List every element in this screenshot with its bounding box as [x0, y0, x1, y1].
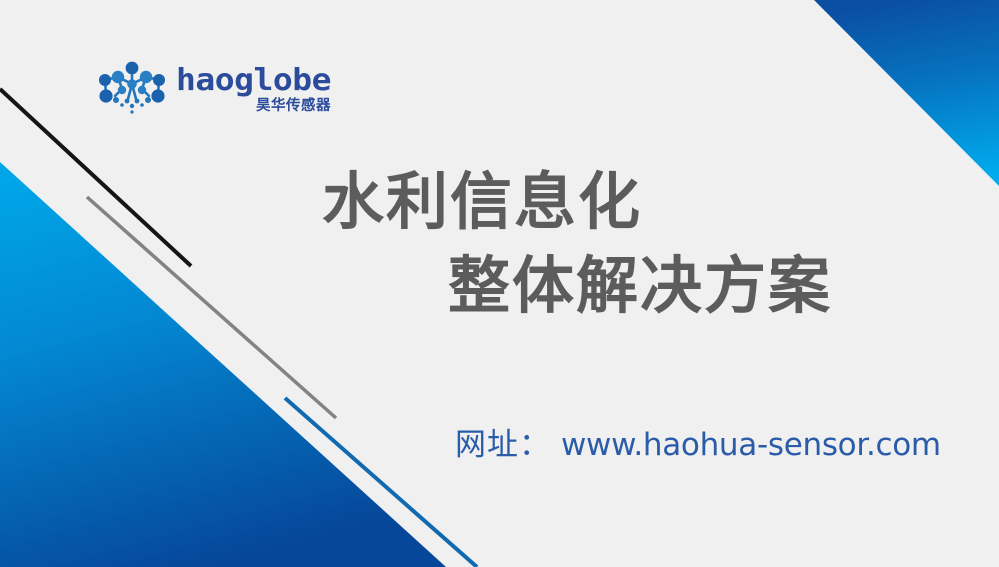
website-url[interactable]: www.haohua-sensor.com: [561, 427, 941, 463]
logo-text-group: haoglobe 昊华传感器: [176, 63, 331, 114]
website-line: 网址： www.haohua-sensor.com: [455, 419, 941, 464]
logo-wordmark: haoglobe: [176, 64, 331, 94]
website-label: 网址：: [455, 419, 551, 464]
logo-subtitle: 昊华传感器: [256, 99, 331, 114]
top-right-triangle: [814, 0, 999, 186]
title-slide: haoglobe 昊华传感器 水利信息化 整体解决方案 网址： www.haoh…: [0, 0, 999, 567]
title-line-primary: 水利信息化: [0, 160, 999, 244]
haoglobe-network-dots-icon: [96, 60, 168, 116]
page-title: 水利信息化 整体解决方案: [0, 160, 999, 329]
title-line-secondary: 整体解决方案: [0, 244, 999, 328]
company-logo: haoglobe 昊华传感器: [96, 57, 311, 119]
